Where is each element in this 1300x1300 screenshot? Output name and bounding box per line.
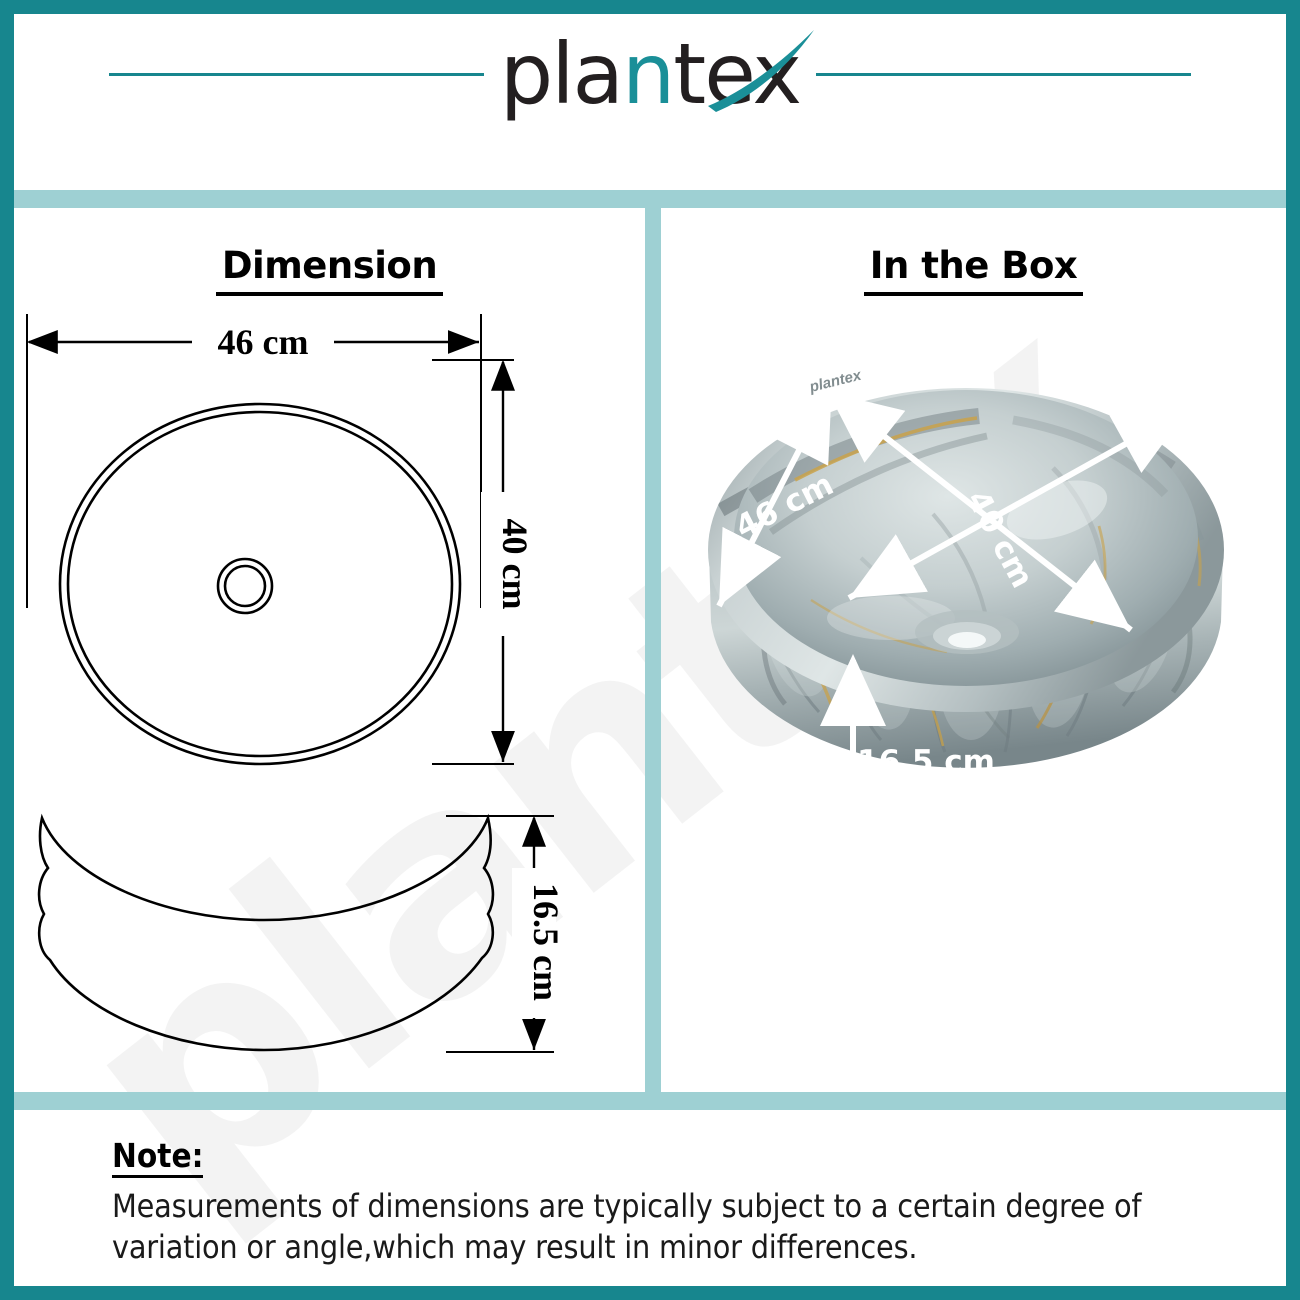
logo-text-n: n [622,25,673,123]
divider-band-top [14,190,1286,208]
technical-drawing-svg: 46 cm 40 cm [14,308,645,1068]
dim-width-label: 46 cm [218,322,309,362]
photo-dim-height-label: 16.5 cm [857,744,995,780]
technical-drawing: 46 cm 40 cm [14,308,645,1068]
dim-depth-label: 40 cm [495,519,535,610]
top-view-group [60,404,460,764]
logo-rule-right [816,73,1191,76]
logo-text-x: x [752,25,800,123]
note-block: Note: Measurements of dimensions are typ… [14,1110,1286,1300]
drain-hole-top-view [218,559,272,613]
panel-box-title: In the Box [661,244,1286,296]
divider-band-bottom [14,1092,1286,1110]
panel-dimension-title: Dimension [14,244,645,296]
panel-dimension: Dimension [14,208,645,1092]
divider-vertical [645,208,661,1092]
drain-hole [915,610,1019,654]
brand-logo: plantex [494,32,806,116]
logo-text-pla: pla [500,25,622,123]
infographic-page: plantex plantex Dimension [0,0,1300,1300]
logo-rule-left [109,73,484,76]
panel-dimension-title-text: Dimension [216,244,443,296]
product-photo-svg: plantex 46 cm 40 cm 16.5 cm [661,300,1286,1060]
dim-height-label: 16.5 cm [526,883,566,1001]
product-photo: plantex 46 cm 40 cm 16.5 cm [661,300,1286,1060]
logo-text-te: te [673,25,752,123]
note-label: Note: [112,1138,203,1178]
panel-in-the-box: In the Box [661,208,1286,1092]
logo-row: plantex [14,14,1286,134]
rim-brand-mark: plantex [807,367,864,397]
side-view-group [39,818,493,1050]
header: plantex [14,14,1286,190]
panel-box-title-text: In the Box [864,244,1083,296]
note-text: Measurements of dimensions are typically… [112,1186,1222,1268]
